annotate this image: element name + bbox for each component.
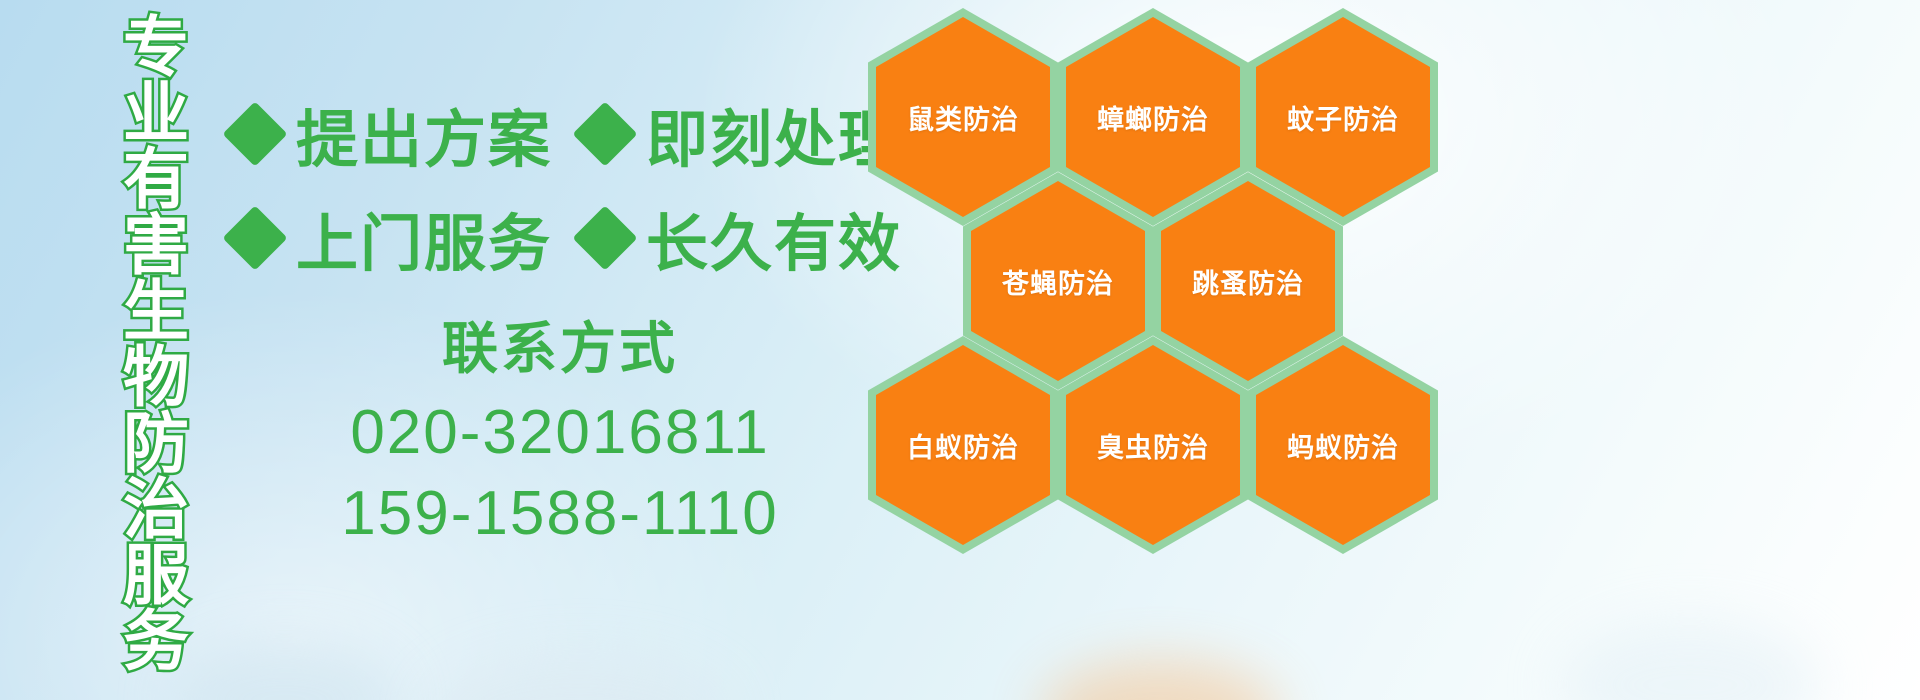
service-hexagon-label: 蟑螂防治 <box>1097 98 1209 137</box>
feature-label: 提出方案 <box>296 89 552 179</box>
vertical-title-char: 生 <box>123 278 189 344</box>
feature-item: 即刻处理 <box>582 89 902 179</box>
vertical-title: 专 业 有 害 生 物 防 治 服 务 <box>108 14 204 559</box>
pest-control-banner: 专 业 有 害 生 物 防 治 服 务 提出方案 即刻处理 上门服务 <box>0 0 1920 700</box>
service-hexagon-cluster: 鼠类防治 蟑螂防治 蚊子防治 苍蝇防治 跳蚤防治 白蚁防治 臭虫防治 蚂蚁防治 <box>860 0 1460 550</box>
diamond-bullet-icon <box>222 205 287 270</box>
phone-number-mobile[interactable]: 159-1588-1110 <box>300 473 820 555</box>
feature-row: 上门服务 长久有效 <box>232 186 872 290</box>
vertical-title-char: 务 <box>123 608 189 674</box>
vertical-title-char: 有 <box>123 146 189 212</box>
diamond-bullet-icon <box>572 205 637 270</box>
background-blob <box>430 655 730 700</box>
service-hexagon-label: 白蚁防治 <box>907 426 1019 465</box>
feature-row: 提出方案 即刻处理 <box>232 82 872 186</box>
service-hexagon-label: 蚊子防治 <box>1287 98 1399 137</box>
vertical-title-char: 服 <box>123 542 189 608</box>
diamond-bullet-icon <box>572 101 637 166</box>
feature-item: 长久有效 <box>582 193 902 283</box>
vertical-title-char: 治 <box>123 476 189 542</box>
vertical-title-char: 害 <box>123 212 189 278</box>
background-blob <box>1560 620 1820 700</box>
phone-number-landline[interactable]: 020-32016811 <box>300 392 820 474</box>
feature-item: 提出方案 <box>232 89 552 179</box>
vertical-title-char: 业 <box>123 80 189 146</box>
service-hexagon-label: 臭虫防治 <box>1097 426 1209 465</box>
feature-list: 提出方案 即刻处理 上门服务 长久有效 <box>232 82 872 290</box>
background-blob <box>1040 660 1280 700</box>
background-blob <box>170 640 400 700</box>
vertical-title-char: 专 <box>123 14 189 80</box>
service-hexagon-label: 苍蝇防治 <box>1002 262 1114 301</box>
service-hexagon-label: 跳蚤防治 <box>1192 262 1304 301</box>
contact-title: 联系方式 <box>300 318 820 380</box>
service-hexagon-label: 鼠类防治 <box>907 98 1019 137</box>
service-hexagon-label: 蚂蚁防治 <box>1287 426 1399 465</box>
feature-item: 上门服务 <box>232 193 552 283</box>
contact-block: 联系方式 020-32016811 159-1588-1110 <box>300 318 820 555</box>
vertical-title-char: 防 <box>123 410 189 476</box>
feature-label: 上门服务 <box>296 193 552 283</box>
diamond-bullet-icon <box>222 101 287 166</box>
vertical-title-char: 物 <box>123 344 189 410</box>
